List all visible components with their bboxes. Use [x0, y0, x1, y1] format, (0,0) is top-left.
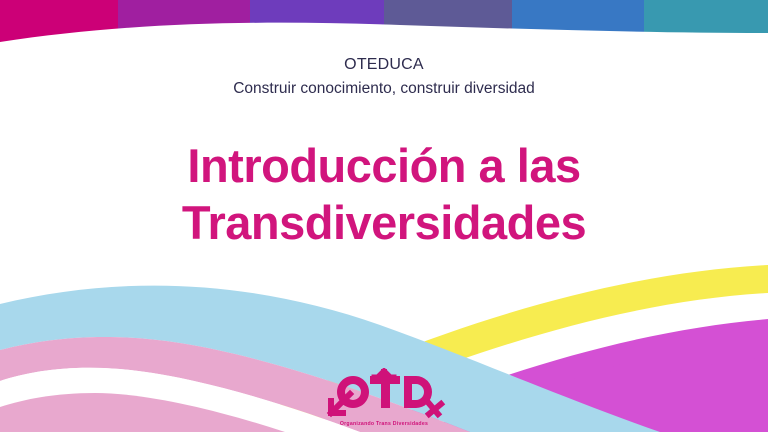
page-title-line-1: Introducción a las	[64, 137, 704, 194]
otd-logo: Organizando Trans Diversidades	[322, 368, 446, 428]
otd-logo-mark	[322, 368, 446, 422]
otd-logo-caption: Organizando Trans Diversidades	[322, 421, 446, 427]
page-title: Introducción a las Transdiversidades	[64, 137, 704, 251]
logo-letter-t-stem	[381, 376, 390, 408]
program-tagline: Construir conocimiento, construir divers…	[233, 78, 535, 99]
slide-root: OTEDUCA Construir conocimiento, construi…	[0, 0, 768, 432]
page-title-line-2: Transdiversidades	[64, 194, 704, 251]
logo-letter-o	[337, 376, 369, 408]
program-name: OTEDUCA	[344, 54, 424, 75]
